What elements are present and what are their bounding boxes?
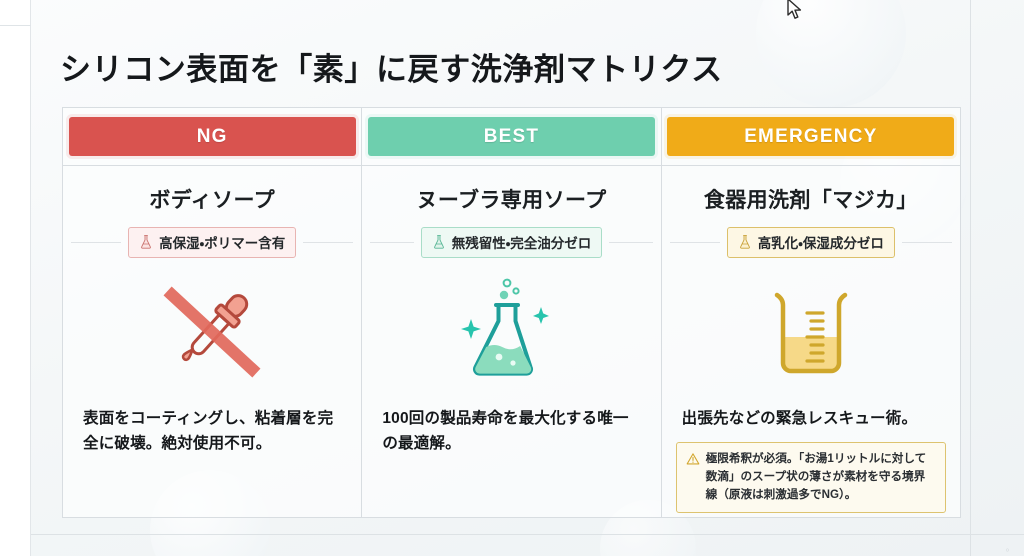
description-emergency: 出張先などの緊急レスキュー術。 <box>662 406 960 431</box>
caution-note: 極限希釈が必須。「お湯1リットルに対して数滴」のスープ状の薄さが素材を守る境界線… <box>676 442 946 513</box>
right-divider <box>970 0 971 556</box>
connector-line-right <box>609 242 652 243</box>
top-divider <box>0 25 31 26</box>
bottom-divider <box>0 534 1024 535</box>
slide-canvas: シリコン表面を「素」に戻す洗浄剤マトリクス NG ボディソープ 高保湿・ポリマー… <box>0 0 1024 556</box>
graduated-beaker-icon <box>755 275 867 387</box>
mouse-cursor <box>786 0 804 22</box>
column-header-emergency: EMERGENCY <box>662 108 960 166</box>
flask-icon <box>432 234 446 250</box>
matrix-column-ng: NG ボディソープ 高保湿・ポリマー含有 <box>63 108 361 517</box>
connector-line-right <box>303 242 353 243</box>
attribute-badge-text: 高保湿・ポリマー含有 <box>159 232 285 252</box>
connector-line-left <box>370 242 413 243</box>
crossed-dropper-icon <box>148 275 276 387</box>
matrix-column-emergency: EMERGENCY 食器用洗剤「マジカ」 高乳化・保湿成分ゼロ <box>661 108 960 517</box>
attribute-badge-text: 高乳化・保湿成分ゼロ <box>758 232 884 252</box>
attribute-row-ng: 高保湿・ポリマー含有 <box>63 227 361 258</box>
flask-icon <box>139 234 153 250</box>
illustration-emergency <box>662 272 960 390</box>
attribute-badge-text: 無残留性・完全油分ゼロ <box>452 232 592 252</box>
column-header-ng: NG <box>63 108 361 166</box>
illustration-best <box>362 272 660 390</box>
rating-badge-best: BEST <box>368 117 655 156</box>
product-name-ng: ボディソープ <box>149 184 275 214</box>
cleanser-matrix-table: NG ボディソープ 高保湿・ポリマー含有 <box>62 107 961 518</box>
attribute-row-emergency: 高乳化・保湿成分ゼロ <box>662 227 960 258</box>
rating-badge-ng: NG <box>69 117 356 156</box>
product-name-emergency: 食器用洗剤「マジカ」 <box>704 184 918 214</box>
attribute-badge-best: 無残留性・完全油分ゼロ <box>421 227 603 258</box>
description-ng: 表面をコーティングし、粘着層を完全に破壊。絶対使用不可。 <box>63 406 361 456</box>
connector-line-right <box>902 242 952 243</box>
caution-text: 極限希釈が必須。「お湯1リットルに対して数滴」のスープ状の薄さが素材を守る境界線… <box>706 450 936 504</box>
flask-icon <box>738 234 752 250</box>
attribute-badge-emergency: 高乳化・保湿成分ゼロ <box>727 227 895 258</box>
attribute-row-best: 無残留性・完全油分ゼロ <box>362 227 660 258</box>
description-best: 100回の製品寿命を最大化する唯一の最適解。 <box>362 406 660 456</box>
warning-triangle-icon <box>686 452 700 466</box>
matrix-column-best: BEST ヌーブラ専用ソープ 無残留性・完全油分ゼロ <box>361 108 660 517</box>
decorative-circle <box>756 0 906 108</box>
footer-mark: 。 <box>1006 539 1017 554</box>
page-title: シリコン表面を「素」に戻す洗浄剤マトリクス <box>60 44 723 89</box>
column-header-best: BEST <box>362 108 660 166</box>
connector-line-left <box>71 242 121 243</box>
attribute-badge-ng: 高保湿・ポリマー含有 <box>128 227 296 258</box>
left-gutter <box>0 0 31 556</box>
connector-line-left <box>670 242 720 243</box>
sparkling-flask-icon <box>449 275 573 387</box>
rating-badge-emergency: EMERGENCY <box>667 117 954 156</box>
illustration-ng <box>63 272 361 390</box>
product-name-best: ヌーブラ専用ソープ <box>416 184 606 214</box>
